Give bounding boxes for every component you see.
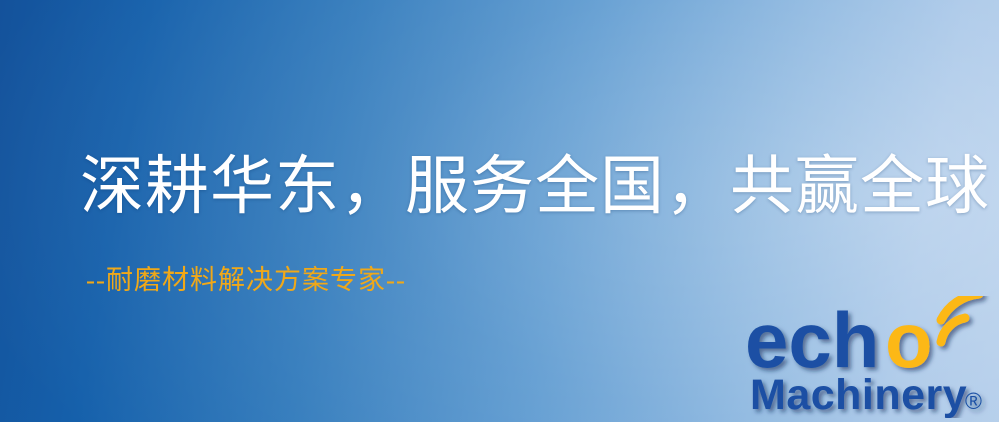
logo-artwork: ech o Machinery ® (745, 296, 995, 418)
promo-banner: 深耕华东，服务全国，共赢全球 --耐磨材料解决方案专家-- ech o Mach… (0, 0, 999, 422)
banner-headline: 深耕华东，服务全国，共赢全球 (80, 150, 990, 224)
banner-subtitle: --耐磨材料解决方案专家-- (86, 262, 406, 298)
signal-arcs-icon (941, 296, 979, 342)
logo-registered-mark: ® (965, 388, 982, 414)
echo-machinery-logo[interactable]: ech o Machinery ® (745, 296, 995, 418)
logo-text-machinery: Machinery (750, 371, 967, 418)
